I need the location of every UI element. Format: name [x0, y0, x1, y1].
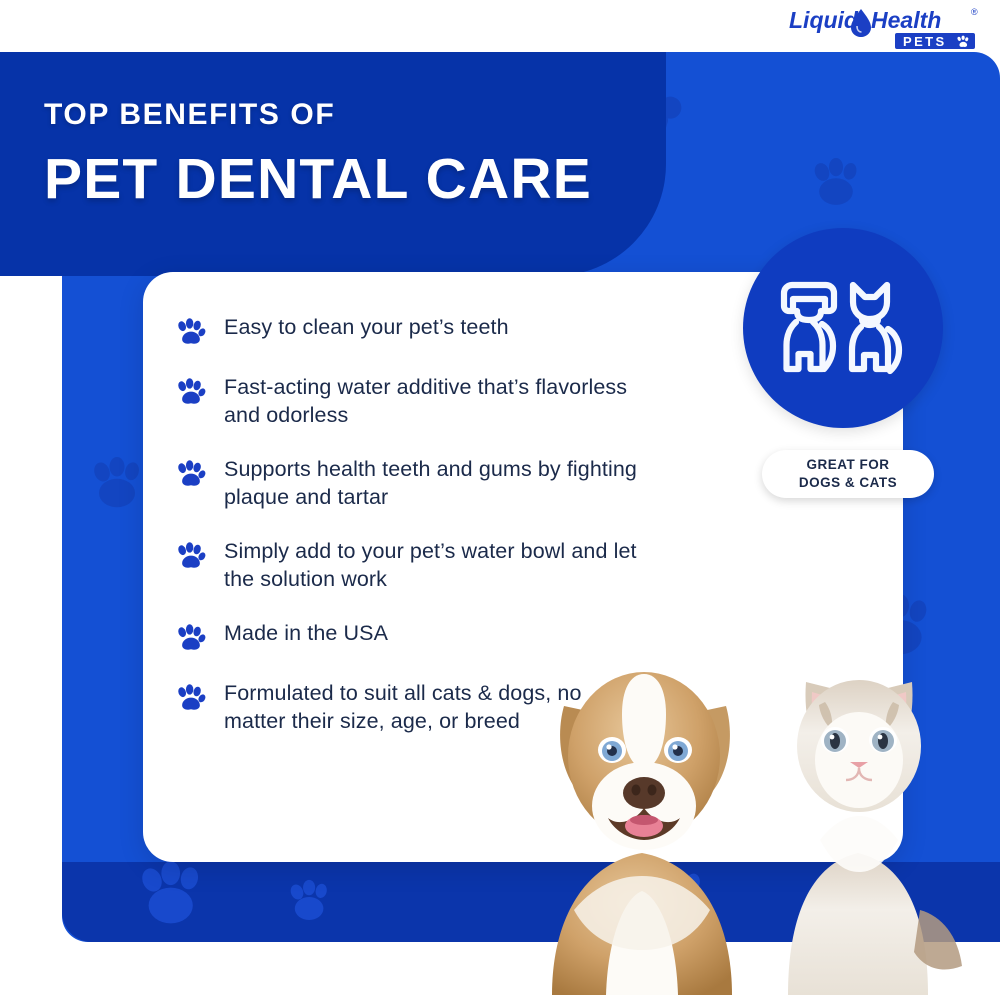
paw-icon: [176, 542, 206, 572]
status-badge: GREAT FOR DOGS & CATS: [762, 450, 934, 498]
paw-icon-glyph: [176, 318, 206, 348]
paw-icon: [176, 624, 206, 654]
benefit-text: Supports health teeth and gums by fighti…: [224, 456, 646, 512]
dog-figure: [552, 672, 732, 995]
paw-icon-glyph: [176, 460, 206, 490]
dog-and-cat-badge: [743, 228, 943, 428]
paw-icon-glyph: [176, 378, 206, 408]
paw-icon-glyph: [176, 624, 206, 654]
benefit-text: Fast-acting water additive that’s flavor…: [224, 374, 646, 430]
cat-figure: [788, 680, 962, 995]
paw-icon: [176, 684, 206, 714]
hero-text-block: TOP BENEFITS OF PET DENTAL CARE: [44, 98, 636, 211]
brand-logo-svg: Liquid Health ® PETS: [785, 4, 990, 52]
badge-line-2: DOGS & CATS: [799, 474, 897, 492]
infographic-canvas: TOP BENEFITS OF PET DENTAL CARE: [0, 0, 1000, 995]
brand-sub-label: PETS: [903, 34, 947, 49]
benefit-text: Easy to clean your pet’s teeth: [224, 314, 509, 342]
list-item: Simply add to your pet’s water bowl and …: [176, 538, 646, 594]
paw-icon: [176, 318, 206, 348]
pets-photo: [520, 610, 1000, 995]
benefit-text: Simply add to your pet’s water bowl and …: [224, 538, 646, 594]
brand-name-part2: Health: [871, 7, 941, 33]
dog-and-cat-photograph: [520, 610, 1000, 995]
hero-kicker: TOP BENEFITS OF: [44, 98, 636, 131]
list-item: Supports health teeth and gums by fighti…: [176, 456, 646, 512]
paw-icon-glyph: [176, 684, 206, 714]
badge-line-1: GREAT FOR: [807, 456, 890, 474]
paw-icon: [176, 378, 206, 408]
paw-icon-glyph: [176, 542, 206, 572]
brand-trademark: ®: [971, 7, 978, 17]
page-title: PET DENTAL CARE: [44, 149, 636, 211]
hero-header: TOP BENEFITS OF PET DENTAL CARE: [0, 52, 666, 276]
paw-icon: [176, 460, 206, 490]
brand-name-part1: Liquid: [789, 7, 859, 33]
benefit-text: Made in the USA: [224, 620, 388, 648]
list-item: Easy to clean your pet’s teeth: [176, 314, 646, 348]
list-item: Fast-acting water additive that’s flavor…: [176, 374, 646, 430]
brand-logo: Liquid Health ® PETS: [785, 4, 990, 52]
dog-and-cat-icon: [772, 272, 914, 384]
